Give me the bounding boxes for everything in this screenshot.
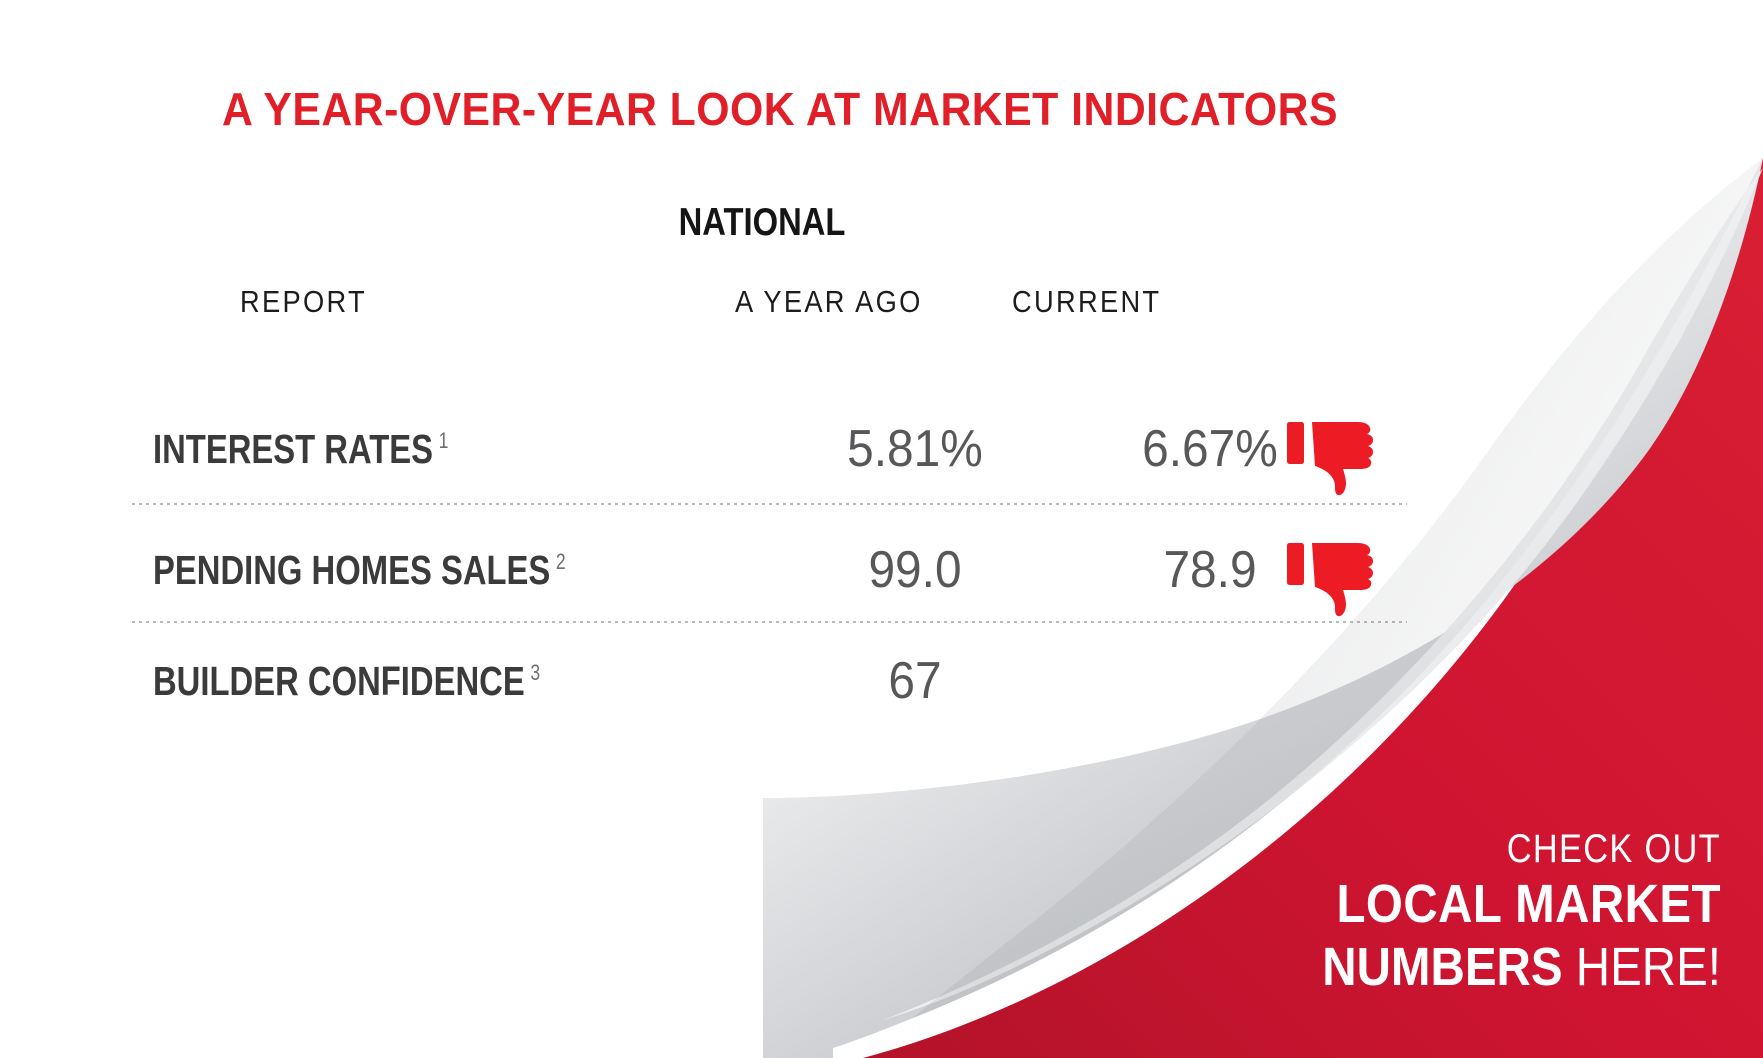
table-row: INTEREST RATES1 5.81% 6.67%: [130, 400, 1430, 520]
row-label: PENDING HOMES SALES2: [153, 547, 566, 594]
row-value-previous: 5.81%: [786, 419, 1044, 479]
row-value-previous: 67: [786, 651, 1044, 711]
row-label-text: PENDING HOMES SALES: [153, 547, 550, 593]
page-title: A YEAR-OVER-YEAR LOOK AT MARKET INDICATO…: [55, 82, 1506, 136]
cta-line-3: NUMBERS HERE!: [1228, 938, 1721, 996]
row-separator: [132, 621, 1407, 623]
row-footnote-marker: 3: [525, 660, 540, 685]
thumbs-down-icon: [1285, 537, 1395, 617]
row-footnote-marker: 1: [433, 428, 448, 453]
trend-indicator: [1285, 537, 1395, 617]
thumbs-down-icon: [1285, 416, 1395, 496]
column-header-current: CURRENT: [1012, 284, 1161, 320]
cta-line-2: LOCAL MARKET: [1228, 875, 1721, 933]
row-footnote-marker: 2: [550, 549, 565, 574]
cta-line-1: CHECK OUT: [1239, 828, 1721, 871]
column-header-report: REPORT: [240, 284, 367, 320]
row-value-previous: 99.0: [786, 540, 1044, 600]
cta-line-3-light: HERE!: [1576, 937, 1721, 997]
row-label: BUILDER CONFIDENCE3: [153, 658, 540, 705]
table-row: BUILDER CONFIDENCE3 67: [130, 632, 1430, 752]
cta-line-3-strong: NUMBERS: [1322, 937, 1562, 997]
row-label-text: BUILDER CONFIDENCE: [153, 658, 525, 704]
trend-indicator: [1285, 416, 1395, 496]
slide-canvas: A YEAR-OVER-YEAR LOOK AT MARKET INDICATO…: [0, 0, 1763, 1058]
cta-block[interactable]: CHECK OUT LOCAL MARKET NUMBERS HERE!: [1161, 828, 1721, 996]
scope-label: NATIONAL: [636, 201, 888, 245]
row-separator: [132, 503, 1407, 505]
table-row: PENDING HOMES SALES2 99.0 78.9: [130, 521, 1430, 641]
row-label: INTEREST RATES1: [153, 426, 448, 473]
column-header-previous: A YEAR AGO: [735, 284, 923, 320]
row-label-text: INTEREST RATES: [153, 426, 433, 472]
